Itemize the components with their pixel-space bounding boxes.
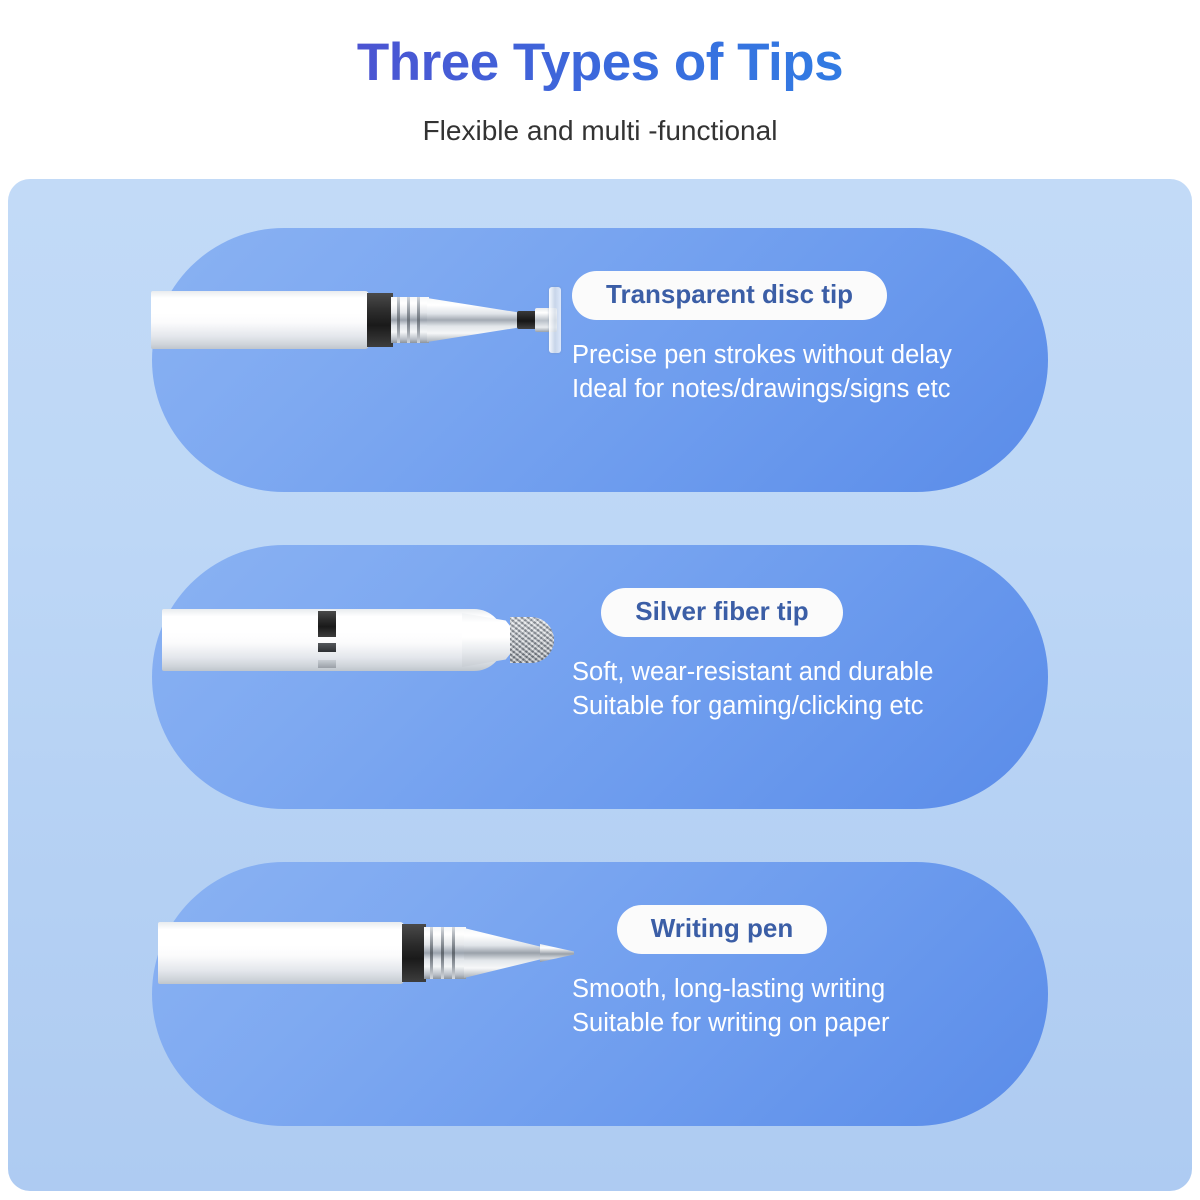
page-title: Three Types of Tips (0, 34, 1200, 92)
tip-badge-wrapper: Silver fiber tip (572, 588, 872, 637)
pen-black-ring (402, 924, 426, 982)
tip-card-text-block: Writing pen Smooth, long-lasting writing… (572, 905, 1042, 1041)
tip-description-line-2: Suitable for gaming/clicking etc (572, 689, 1042, 724)
pen-groove-icon (441, 927, 444, 979)
pen-groove-icon (430, 927, 433, 979)
tip-badge-label: Transparent disc tip (572, 271, 887, 320)
pen-groove-icon (407, 297, 410, 343)
pen-barrel (151, 291, 369, 349)
page-header: Three Types of Tips Flexible and multi -… (0, 0, 1200, 148)
stylus-disc-tip-pen-illustration (151, 285, 571, 355)
pen-black-ring (318, 611, 336, 637)
ballpoint-nib-icon (540, 944, 574, 962)
pen-groove-icon (397, 297, 400, 343)
pen-dark-stripe (318, 643, 336, 652)
tip-card-text-block: Silver fiber tip Soft, wear-resistant an… (572, 588, 1042, 724)
pen-groove-icon (452, 927, 455, 979)
tip-description: Smooth, long-lasting writing Suitable fo… (572, 972, 1042, 1041)
tip-card-transparent-disc-tip[interactable]: Transparent disc tip Precise pen strokes… (152, 228, 1048, 492)
page-subtitle: Flexible and multi -functional (0, 114, 1200, 148)
pen-tapered-cone (427, 298, 519, 342)
pen-groove-icon (417, 297, 420, 343)
stylus-fiber-tip-pen-illustration (162, 603, 562, 677)
ballpoint-writing-pen-illustration (158, 917, 568, 989)
tip-badge-label: Writing pen (617, 905, 828, 954)
tip-badge-wrapper: Transparent disc tip (572, 271, 872, 320)
pen-black-neck (517, 311, 537, 329)
tip-description-line-1: Smooth, long-lasting writing (572, 972, 1042, 1007)
transparent-disc-icon (549, 287, 561, 353)
pen-tapered-cone (464, 928, 542, 978)
tip-description: Precise pen strokes without delay Ideal … (572, 338, 1042, 407)
tip-badge-label: Silver fiber tip (601, 588, 842, 637)
tip-description-line-2: Suitable for writing on paper (572, 1006, 1042, 1041)
tip-description-line-1: Soft, wear-resistant and durable (572, 655, 1042, 690)
tip-description-line-1: Precise pen strokes without delay (572, 338, 1042, 373)
tip-description-line-2: Ideal for notes/drawings/signs etc (572, 372, 1042, 407)
tip-card-writing-pen[interactable]: Writing pen Smooth, long-lasting writing… (152, 862, 1048, 1126)
tip-card-text-block: Transparent disc tip Precise pen strokes… (572, 271, 1042, 407)
silver-fiber-dome-icon (510, 617, 554, 663)
pen-light-stripe (318, 660, 336, 668)
tip-badge-wrapper: Writing pen (572, 905, 872, 954)
tips-panel: Transparent disc tip Precise pen strokes… (8, 179, 1192, 1191)
pen-black-ring (367, 293, 393, 347)
tip-card-silver-fiber-tip[interactable]: Silver fiber tip Soft, wear-resistant an… (152, 545, 1048, 809)
tip-description: Soft, wear-resistant and durable Suitabl… (572, 655, 1042, 724)
pen-barrel (158, 922, 404, 984)
